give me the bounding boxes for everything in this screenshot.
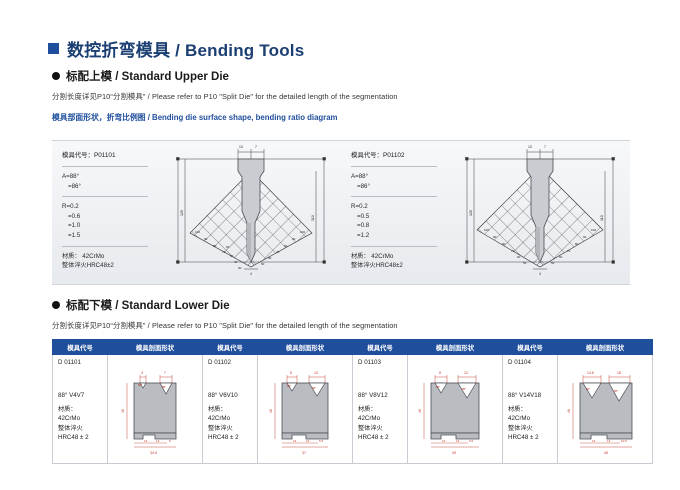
lower-die-2-spec: 88° V6V10 [208, 392, 257, 399]
svg-text:100: 100 [484, 228, 489, 232]
lower-die-2-quench: 整体淬火 [208, 424, 257, 433]
svg-text:100: 100 [195, 230, 200, 234]
upper-die-2-profile-svg: 13 7 120 110 100 90 80 70 60 50 100 90 8… [453, 141, 631, 286]
lower-die-1-angle-right: 88° [162, 385, 166, 389]
lower-die-3-foot-1: 13 [442, 439, 446, 443]
lower-die-1-foot-1: 13 [144, 439, 148, 443]
lower-die-3-foot-3: 6.5 [469, 439, 474, 443]
upper-die-1-angle-main: A=88° [62, 172, 158, 182]
section-lower-die-subtitle: 分割长度详见P10“分割模具” / Please refer to P10 "S… [52, 320, 398, 331]
upper-die-1-code-value: P01101 [94, 152, 116, 159]
upper-die-1-code: 模具代号：P01101 [62, 151, 158, 161]
lower-die-4-v-right: 18 [617, 371, 621, 375]
upper-die-1-material-label: 材质： [62, 253, 81, 260]
lower-die-4-foot-3: 10.5 [621, 439, 627, 443]
header-code-1: 模具代号 [53, 340, 108, 355]
divider [62, 196, 148, 197]
lower-die-2-profile-svg: 6 88° 10 88° 46 37 13 [260, 355, 350, 461]
lower-die-4-angle-right: 88° [614, 389, 618, 393]
page-title-cn: 数控折弯模具 [67, 41, 170, 60]
lower-die-1-quench: 整体淬火 [58, 424, 107, 433]
cell-shape-4: 14.8 88° 18 88° 46 45 13 [558, 355, 653, 464]
lower-die-4-v-left: 14.8 [587, 371, 594, 375]
lower-die-1-hardness: HRC48 ± 2 [58, 433, 107, 442]
lower-die-3-code: D 01103 [358, 359, 407, 366]
svg-text:50: 50 [230, 254, 234, 258]
upper-die-1-dim-top-left: 13 [239, 145, 243, 149]
divider [62, 246, 148, 247]
upper-die-1-spec: 模具代号：P01101 A=88° =86° R=0.2 =0.6 =1.0 =… [52, 141, 164, 284]
header-shape-1: 模具剖面形状 [108, 340, 203, 355]
upper-die-1-radius-main: R=0.2 [62, 202, 158, 212]
svg-text:70: 70 [567, 249, 571, 253]
lower-die-3-v-right: 12 [464, 371, 468, 375]
upper-die-2-angle-alt: =86° [351, 182, 447, 192]
header-shape-3: 模具剖面形状 [408, 340, 503, 355]
section-lower-die-title-en: / Standard Lower Die [115, 300, 229, 312]
table-row: D 01101 88° V4V7 材质： 42CrMo 整体淬火 HRC48 ±… [53, 355, 653, 464]
header-code-3: 模具代号 [353, 340, 408, 355]
lower-die-1-v-right: 7 [164, 371, 166, 375]
lower-die-2-v-right: 10 [314, 371, 318, 375]
cell-shape-1: 4 88° 7 88° 46 34.5 13 [108, 355, 203, 464]
page-title-text: 数控折弯模具 / Bending Tools [67, 36, 304, 61]
lower-die-4-code: D 01104 [508, 359, 557, 366]
cell-code-1: D 01101 88° V4V7 材质： 42CrMo 整体淬火 HRC48 ±… [53, 355, 108, 464]
lower-die-1-vees: V4V7 [69, 392, 84, 399]
section-upper-die-title-en: / Standard Upper Die [115, 71, 229, 83]
lower-die-1-info: D 01101 88° V4V7 材质： 42CrMo 整体淬火 HRC48 ±… [53, 355, 107, 442]
section-upper-die-subtitle: 分割长度详见P10“分割模具” / Please refer to P10 "S… [52, 91, 398, 102]
bullet-dot-icon [52, 72, 60, 80]
upper-die-1-material-value: 42CrMo [82, 253, 104, 260]
upper-die-2-radius-alt-1: =0.5 [351, 212, 447, 222]
svg-text:90: 90 [204, 237, 208, 241]
svg-text:90: 90 [583, 235, 587, 239]
section-upper-die-subtitle-2: 模具部面形状，折弯比例图 / Bending die surface shape… [52, 112, 398, 123]
lower-die-1-angle: 88° [58, 392, 67, 399]
lower-die-3-spec: 88° V8V12 [358, 392, 407, 399]
upper-die-1-angle-alt: =86° [62, 182, 158, 192]
lower-die-2-foot-2: 13 [306, 439, 310, 443]
cell-code-3: D 01103 88° V8V12 材质： 42CrMo 整体淬火 HRC48 … [353, 355, 408, 464]
cell-code-2: D 01102 88° V6V10 材质： 42CrMo 整体淬火 HRC48 … [203, 355, 258, 464]
upper-die-2-dim-tip: 4 [539, 272, 541, 276]
page-title-en: Bending Tools [185, 41, 304, 60]
svg-text:80: 80 [284, 244, 288, 248]
upper-die-1-hardness: 整体淬火HRC48±2 [62, 261, 158, 271]
upper-die-2-angle-main: A=88° [351, 172, 447, 182]
upper-die-1-radius-alt-2: =1.0 [62, 221, 158, 231]
section-lower-die-heading: 标配下模 / Standard Lower Die [52, 297, 398, 313]
section-lower-die: 标配下模 / Standard Lower Die 分割长度详见P10“分割模具… [52, 297, 398, 331]
svg-text:100: 100 [300, 230, 305, 234]
lower-die-3-width: 39 [452, 451, 456, 455]
upper-die-2-material-label: 材质： [351, 253, 370, 260]
svg-text:50: 50 [551, 261, 555, 265]
lower-die-2-info: D 01102 88° V6V10 材质： 42CrMo 整体淬火 HRC48 … [203, 355, 257, 442]
svg-text:80: 80 [213, 244, 217, 248]
upper-die-1-radius-alt-3: =1.5 [62, 231, 158, 241]
section-upper-die: 标配上模 / Standard Upper Die 分割长度详见P10“分割模具… [52, 68, 398, 123]
svg-text:70: 70 [222, 250, 226, 254]
svg-text:40: 40 [234, 260, 238, 264]
section-upper-die-title-cn: 标配上模 [66, 71, 112, 83]
square-marker-icon [48, 43, 59, 54]
svg-text:70: 70 [276, 250, 280, 254]
lower-die-2-width: 37 [302, 451, 306, 455]
lower-die-3-height: 46 [418, 409, 422, 413]
lower-die-4-foot-2: 13 [607, 439, 611, 443]
lower-die-3-foot-2: 13 [456, 439, 460, 443]
lower-die-4-width: 45 [604, 451, 608, 455]
svg-text:80: 80 [502, 242, 506, 246]
section-upper-die-title: 标配上模 / Standard Upper Die [66, 68, 229, 84]
upper-die-2-dim-top-right: 7 [544, 145, 546, 149]
upper-die-2-radius-alt-3: =1.2 [351, 231, 447, 241]
svg-text:100: 100 [591, 228, 596, 232]
svg-text:60: 60 [559, 255, 563, 259]
lower-die-3-angle-left: 88° [436, 385, 440, 389]
lower-die-3-vees: V8V12 [369, 392, 388, 399]
header-code-4: 模具代号 [503, 340, 558, 355]
lower-die-1-foot-2: 13 [156, 439, 160, 443]
lower-die-2-vees: V6V10 [219, 392, 238, 399]
lower-die-2-code: D 01102 [208, 359, 257, 366]
svg-text:60: 60 [268, 256, 272, 260]
divider [351, 246, 437, 247]
lower-die-3-v-left: 8 [439, 371, 441, 375]
lower-die-2-angle: 88° [208, 392, 217, 399]
table-header-row: 模具代号 模具剖面形状 模具代号 模具剖面形状 模具代号 模具剖面形状 模具代号… [53, 340, 653, 355]
lower-die-3-angle-right: 88° [462, 387, 466, 391]
lower-die-4-material-label: 材质： [508, 405, 557, 414]
upper-die-card-2: 模具代号：P01102 A=88° =86° R=0.2 =0.5 =0.8 =… [341, 141, 630, 284]
lower-die-3-hardness: HRC48 ± 2 [358, 433, 407, 442]
header-shape-4: 模具剖面形状 [558, 340, 653, 355]
lower-die-3-material-label: 材质： [358, 405, 407, 414]
lower-die-1-width: 34.5 [150, 451, 157, 455]
upper-die-panel: 模具代号：P01101 A=88° =86° R=0.2 =0.6 =1.0 =… [52, 140, 630, 285]
upper-die-1-dim-top-right: 7 [255, 145, 257, 149]
upper-die-1-drawing: 13 7 120 110 100 90 80 70 60 50 40 [164, 141, 341, 284]
lower-die-table: 模具代号 模具剖面形状 模具代号 模具剖面形状 模具代号 模具剖面形状 模具代号… [52, 339, 653, 464]
svg-text:70: 70 [511, 249, 515, 253]
cell-shape-3: 8 88° 12 88° 46 39 13 [408, 355, 503, 464]
cell-code-4: D 01104 88° V14V18 材质： 42CrMo 整体淬火 HRC48… [503, 355, 558, 464]
upper-die-2-code: 模具代号：P01102 [351, 151, 447, 161]
lower-die-3-angle: 88° [358, 392, 367, 399]
upper-die-2-code-label: 模具代号： [351, 152, 383, 159]
lower-die-4-profile-svg: 14.8 88° 18 88° 46 45 13 [560, 355, 650, 461]
lower-die-3-info: D 01103 88° V8V12 材质： 42CrMo 整体淬火 HRC48 … [353, 355, 407, 442]
lower-die-4-info: D 01104 88° V14V18 材质： 42CrMo 整体淬火 HRC48… [503, 355, 557, 442]
lower-die-1-foot-3: 5 [169, 439, 171, 443]
upper-die-1-material: 材质： 42CrMo [62, 252, 158, 262]
lower-die-4-foot-1: 13 [592, 439, 596, 443]
lower-die-1-spec: 88° V4V7 [58, 392, 107, 399]
page-title: 数控折弯模具 / Bending Tools [48, 36, 304, 61]
upper-die-2-dim-height-left: 120 [469, 210, 473, 216]
svg-text:50: 50 [523, 261, 527, 265]
upper-die-2-spec: 模具代号：P01102 A=88° =86° R=0.2 =0.5 =0.8 =… [341, 141, 453, 284]
svg-text:30: 30 [238, 266, 242, 270]
upper-die-2-hardness: 整体淬火HRC48±2 [351, 261, 447, 271]
upper-die-2-drawing: 13 7 120 110 100 90 80 70 60 50 100 90 8… [453, 141, 630, 284]
upper-die-2-radius-alt-2: =0.8 [351, 221, 447, 231]
lower-die-3-material-value: 42CrMo [358, 414, 407, 423]
header-code-2: 模具代号 [203, 340, 258, 355]
lower-die-2-material-value: 42CrMo [208, 414, 257, 423]
page-title-separator: / [170, 41, 185, 60]
upper-die-2-material: 材质： 42CrMo [351, 252, 447, 262]
lower-die-1-profile-svg: 4 88° 7 88° 46 34.5 13 [110, 355, 200, 461]
upper-die-2-material-value: 42CrMo [371, 253, 393, 260]
divider [351, 166, 437, 167]
lower-die-2-foot-1: 13 [293, 439, 297, 443]
upper-die-card-1: 模具代号：P01101 A=88° =86° R=0.2 =0.6 =1.0 =… [52, 141, 341, 284]
lower-die-1-material-label: 材质： [58, 405, 107, 414]
section-upper-die-heading: 标配上模 / Standard Upper Die [52, 68, 398, 84]
lower-die-4-hardness: HRC48 ± 2 [508, 433, 557, 442]
cell-shape-2: 6 88° 10 88° 46 37 13 [258, 355, 353, 464]
svg-text:50: 50 [261, 262, 265, 266]
divider [62, 166, 148, 167]
lower-die-3-quench: 整体淬火 [358, 424, 407, 433]
lower-die-1-v-left: 4 [141, 371, 143, 375]
lower-die-4-quench: 整体淬火 [508, 424, 557, 433]
document-page: 数控折弯模具 / Bending Tools 标配上模 / Standard U… [0, 0, 680, 490]
lower-die-2-material-label: 材质： [208, 405, 257, 414]
upper-die-1-dim-tip: 4 [250, 272, 252, 276]
upper-die-1-radius-alt-1: =0.6 [62, 212, 158, 222]
svg-text:60: 60 [226, 245, 230, 249]
lower-die-1-material-value: 42CrMo [58, 414, 107, 423]
bullet-dot-icon [52, 301, 60, 309]
lower-die-2-height: 46 [269, 409, 273, 413]
header-shape-2: 模具剖面形状 [258, 340, 353, 355]
lower-die-4-material-value: 42CrMo [508, 414, 557, 423]
svg-text:80: 80 [575, 242, 579, 246]
svg-text:90: 90 [493, 235, 497, 239]
lower-die-2-v-left: 6 [290, 371, 292, 375]
lower-die-4-vees: V14V18 [519, 392, 541, 399]
svg-text:60: 60 [517, 255, 521, 259]
section-lower-die-title: 标配下模 / Standard Lower Die [66, 297, 230, 313]
lower-die-2-angle-right: 88° [312, 386, 316, 390]
lower-die-2-hardness: HRC48 ± 2 [208, 433, 257, 442]
upper-die-1-code-label: 模具代号： [62, 152, 94, 159]
lower-die-1-angle-left: 88° [138, 383, 142, 387]
lower-die-4-spec: 88° V14V18 [508, 392, 557, 399]
lower-die-1-height: 46 [121, 409, 125, 413]
lower-die-2-angle-left: 88° [287, 384, 291, 388]
lower-die-3-profile-svg: 8 88° 12 88° 46 39 13 [410, 355, 500, 461]
svg-text:90: 90 [292, 237, 296, 241]
upper-die-1-dim-height-right: 110 [311, 215, 315, 221]
lower-die-2-foot-3: 5.5 [319, 439, 324, 443]
lower-die-4-angle: 88° [508, 392, 517, 399]
upper-die-2-dim-top-left: 13 [528, 145, 532, 149]
lower-die-1-code: D 01101 [58, 359, 107, 366]
lower-die-4-height: 46 [567, 409, 571, 413]
upper-die-1-profile-svg: 13 7 120 110 100 90 80 70 60 50 40 [164, 141, 342, 286]
upper-die-2-radius-main: R=0.2 [351, 202, 447, 212]
section-lower-die-title-cn: 标配下模 [66, 300, 112, 312]
upper-die-1-dim-height-left: 120 [180, 210, 184, 216]
lower-die-4-angle-left: 88° [586, 387, 590, 391]
divider [351, 196, 437, 197]
upper-die-2-dim-height-right: 110 [600, 215, 604, 221]
upper-die-2-code-value: P01102 [383, 152, 405, 159]
